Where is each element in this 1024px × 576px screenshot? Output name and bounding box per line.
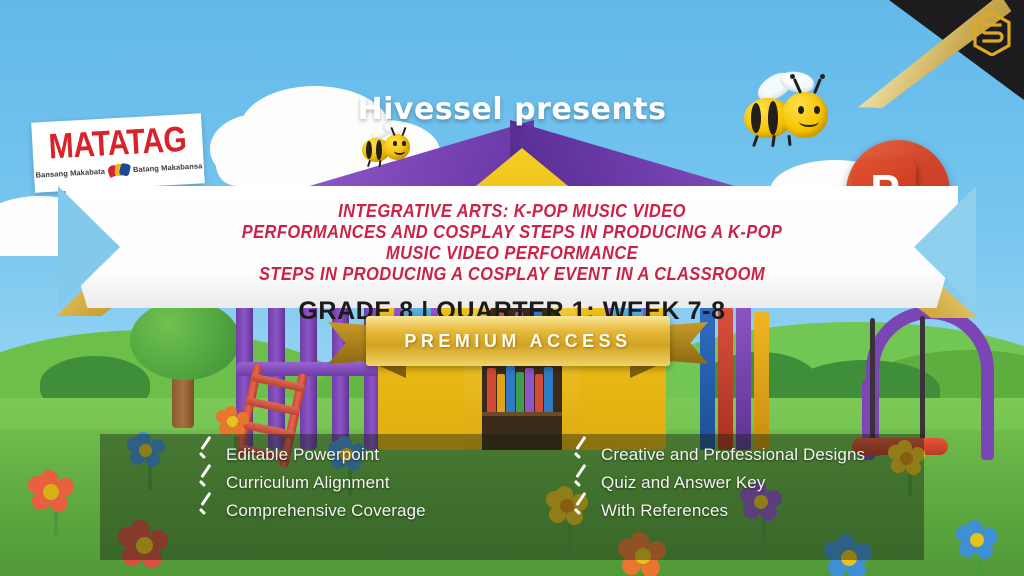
check-icon xyxy=(571,500,592,521)
pencil xyxy=(718,308,733,450)
premium-ribbon: PREMIUM ACCESS xyxy=(328,316,708,378)
ribbon-label: PREMIUM ACCESS xyxy=(404,331,631,352)
matatag-logo: MATATAG Bansang Makabata Batang Makabans… xyxy=(31,113,205,192)
list-item: Quiz and Answer Key xyxy=(571,472,924,493)
poster-canvas: MATATAG Bansang Makabata Batang Makabans… xyxy=(0,0,1024,576)
check-icon xyxy=(196,444,217,465)
check-icon xyxy=(196,472,217,493)
matatag-hands-emblem-icon xyxy=(108,162,131,177)
check-icon xyxy=(571,472,592,493)
presents-heading: Hivessel presents xyxy=(312,92,712,127)
list-item: Curriculum Alignment xyxy=(196,472,549,493)
feature-label: Creative and Professional Designs xyxy=(601,445,865,465)
matatag-tagline-right: Batang Makabansa xyxy=(133,161,203,174)
pencil xyxy=(754,312,769,450)
features-column-right: Creative and Professional Designs Quiz a… xyxy=(549,444,924,560)
feature-label: With References xyxy=(601,501,728,521)
list-item: Comprehensive Coverage xyxy=(196,500,549,521)
swing-rope xyxy=(920,316,925,440)
title-line-4: STEPS IN PRODUCING A COSPLAY EVENT IN A … xyxy=(120,263,904,287)
features-list: Editable Powerpoint Curriculum Alignment… xyxy=(100,434,924,560)
hexagon-s-logo-icon xyxy=(972,12,1012,56)
matatag-wordmark: MATATAG xyxy=(48,123,187,166)
features-column-left: Editable Powerpoint Curriculum Alignment… xyxy=(100,444,549,560)
ribbon-body: PREMIUM ACCESS xyxy=(366,316,670,366)
swing-leg xyxy=(981,380,994,460)
swing-rope xyxy=(870,318,875,440)
list-item: With References xyxy=(571,500,924,521)
feature-label: Comprehensive Coverage xyxy=(226,501,426,521)
title-text-block: INTEGRATIVE ARTS: K-POP MUSIC VIDEO PERF… xyxy=(120,200,904,326)
feature-label: Curriculum Alignment xyxy=(226,473,390,493)
title-banner: INTEGRATIVE ARTS: K-POP MUSIC VIDEO PERF… xyxy=(0,186,1024,316)
list-item: Editable Powerpoint xyxy=(196,444,549,465)
check-icon xyxy=(571,444,592,465)
matatag-tagline-left: Bansang Makabata xyxy=(35,166,105,179)
feature-label: Quiz and Answer Key xyxy=(601,473,765,493)
feature-label: Editable Powerpoint xyxy=(226,445,379,465)
check-icon xyxy=(196,500,217,521)
list-item: Creative and Professional Designs xyxy=(571,444,924,465)
